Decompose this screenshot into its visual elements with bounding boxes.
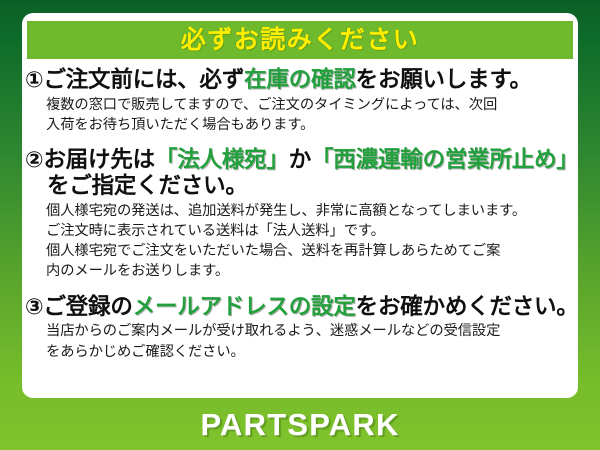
header-title: 必ずお読みください: [181, 28, 420, 53]
notice-marker-1: ①: [25, 67, 43, 92]
notice-card: 必ずお読みください ①ご注文前には、必ず在庫の確認をお願いします。複数の窓口で販…: [22, 13, 578, 398]
notice-text-3-1: ご登録の: [43, 294, 132, 319]
notice-body-line-3-2: をあらかじめご確認ください。: [46, 342, 570, 362]
notice-text-1-3: をお願いします。: [356, 67, 532, 92]
notice-highlight-1-2: 在庫の確認: [244, 67, 356, 92]
notice-body-3: 当店からのご案内メールが受け取れるよう、迷惑メールなどの受信設定をあらかじめご確…: [22, 321, 570, 362]
notice-body-line-2-4: 内のメールをお送りします。: [46, 261, 570, 281]
notice-body-line-2-1: 個人様宅宛の発送は、追加送料が発生し、非常に高額となってしまいます。: [46, 201, 570, 221]
header-band: 必ずお読みください: [27, 21, 573, 59]
notice-body-line-1-2: 入荷をお待ち頂いただく場合もあります。: [46, 115, 570, 135]
notice-text-2-1: お届け先は: [43, 147, 155, 172]
notice-item-1: ①ご注文前には、必ず在庫の確認をお願いします。複数の窓口で販売してますので、ご注…: [22, 67, 578, 135]
notice-text-1-1: ご注文前には、必ず: [43, 67, 244, 92]
notice-item-2: ②お届け先は「法人様宛」か「西濃運輸の営業所止め」をご指定ください。個人様宅宛の…: [22, 147, 578, 281]
notice-highlight-3-2: メールアドレスの設定: [133, 294, 356, 319]
notice-banner: 必ずお読みください ①ご注文前には、必ず在庫の確認をお願いします。複数の窓口で販…: [0, 0, 600, 450]
notice-text-2-3: か: [289, 147, 311, 172]
notice-body-2: 個人様宅宛の発送は、追加送料が発生し、非常に高額となってしまいます。ご注文時に表…: [22, 201, 570, 282]
notice-body-line-2-2: ご注文時に表示されている送料は「法人送料」です。: [46, 221, 570, 241]
notice-body-1: 複数の窓口で販売してますので、ご注文のタイミングによっては、次回入荷をお待ち頂い…: [22, 95, 570, 136]
notice-marker-3: ③: [25, 294, 43, 319]
footer-logo-bar: PARTSPARK: [0, 398, 600, 450]
brand-wordmark: PARTSPARK: [200, 409, 399, 440]
notice-body-line-1-1: 複数の窓口で販売してますので、ご注文のタイミングによっては、次回: [46, 95, 570, 115]
notice-heading-cont-2: をご指定ください。: [22, 173, 570, 199]
notice-body-line-2-3: 個人様宅宛でご注文をいただいた場合、送料を再計算しあらためてご案: [46, 241, 570, 261]
notice-item-3: ③ご登録のメールアドレスの設定をお確かめください。当店からのご案内メールが受け取…: [22, 294, 578, 362]
notice-list: ①ご注文前には、必ず在庫の確認をお願いします。複数の窓口で販売してますので、ご注…: [22, 67, 578, 362]
notice-body-line-3-1: 当店からのご案内メールが受け取れるよう、迷惑メールなどの受信設定: [46, 321, 570, 341]
notice-marker-2: ②: [25, 147, 43, 172]
notice-highlight-2-2: 「法人様宛」: [155, 147, 289, 172]
notice-heading-2: ②お届け先は「法人様宛」か「西濃運輸の営業所止め」: [22, 147, 570, 173]
notice-heading-3: ③ご登録のメールアドレスの設定をお確かめください。: [22, 294, 570, 320]
notice-heading-1: ①ご注文前には、必ず在庫の確認をお願いします。: [22, 67, 570, 93]
notice-text-3-3: をお確かめください。: [356, 294, 578, 319]
notice-highlight-2-4: 「西濃運輸の営業所止め」: [311, 147, 578, 172]
